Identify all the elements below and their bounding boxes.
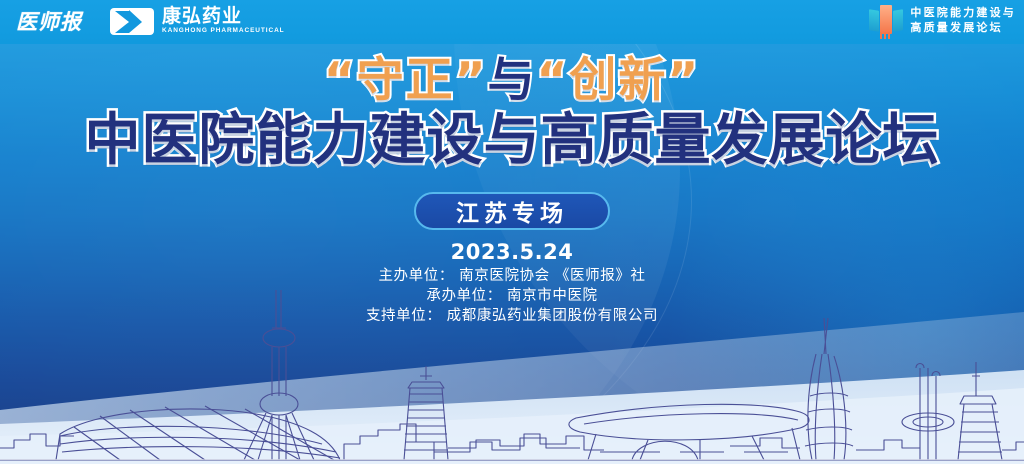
city-skyline-illustration: [0, 284, 1024, 464]
skyline-baseline: [0, 459, 1024, 460]
header: 医师报 康弘药业 KANGHONG PHARMACEUTICAL 中医院能力建设…: [0, 0, 1024, 44]
forum-logo[interactable]: 中医院能力建设与 高质量发展论坛: [869, 3, 1016, 39]
yishibao-logo-label: 医师报: [16, 6, 82, 36]
title-line1-left: “守正”: [324, 53, 488, 108]
event-date: 2023.5.24: [0, 240, 1024, 264]
poster-canvas: 医师报 康弘药业 KANGHONG PHARMACEUTICAL 中医院能力建设…: [0, 0, 1024, 464]
forum-logo-line1: 中医院能力建设与: [910, 6, 1016, 21]
title-line1-mid: 与: [488, 53, 537, 108]
kanghong-logo-cn: 康弘药业: [162, 7, 285, 26]
badge-row: 江苏专场: [0, 192, 1024, 230]
skyline-svg: [0, 284, 1024, 464]
organizer-line-host: 主办单位： 南京医院协会 《医师报》社: [0, 266, 1024, 286]
title-line-1: “守正”与“创新”: [0, 56, 1024, 106]
session-badge: 江苏专场: [414, 192, 610, 230]
forum-logo-line2: 高质量发展论坛: [910, 21, 1016, 36]
kanghong-mark-icon: [110, 8, 154, 35]
open-book-icon: [869, 5, 903, 38]
yishibao-logo[interactable]: 医师报: [10, 5, 88, 37]
kanghong-logo[interactable]: 康弘药业 KANGHONG PHARMACEUTICAL: [110, 6, 285, 36]
kanghong-logo-en: KANGHONG PHARMACEUTICAL: [162, 28, 285, 35]
title-block: “守正”与“创新” 中医院能力建设与高质量发展论坛: [0, 56, 1024, 171]
title-line-2: 中医院能力建设与高质量发展论坛: [0, 112, 1024, 171]
title-line1-right: “创新”: [537, 53, 701, 108]
